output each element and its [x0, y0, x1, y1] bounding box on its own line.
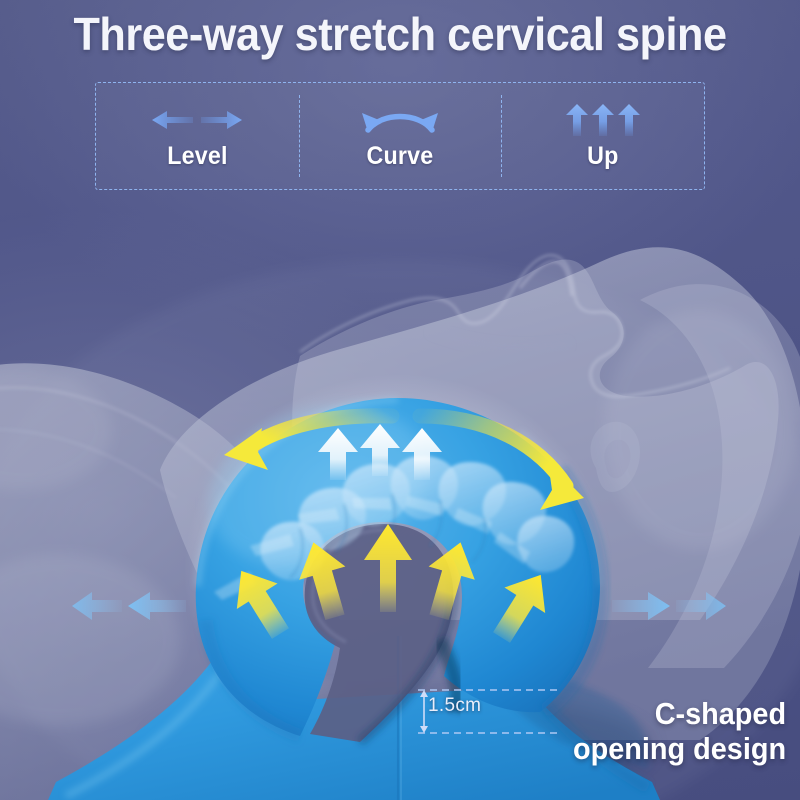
horizontal-double-arrow-icon [149, 102, 245, 138]
caption-line-1: C-shaped [573, 696, 786, 731]
feature-badge-panel: Level Curve [95, 82, 705, 190]
caption-c-shaped-opening: C-shaped opening design [573, 696, 786, 766]
caption-line-2: opening design [573, 731, 786, 766]
top-push-arrows [318, 424, 442, 480]
infographic-canvas: Three-way stretch cervical spine [0, 0, 800, 800]
arc-double-arrow-icon [352, 102, 448, 138]
badge-curve[interactable]: Curve [299, 83, 502, 189]
badge-label: Curve [367, 142, 434, 170]
badge-label: Level [167, 142, 227, 170]
badge-up[interactable]: Up [501, 83, 704, 189]
badge-label: Up [587, 142, 618, 170]
badge-level[interactable]: Level [96, 83, 299, 189]
page-title: Three-way stretch cervical spine [24, 6, 776, 62]
dimension-label: 1.5cm [428, 695, 481, 717]
triple-up-arrow-icon [558, 102, 648, 138]
